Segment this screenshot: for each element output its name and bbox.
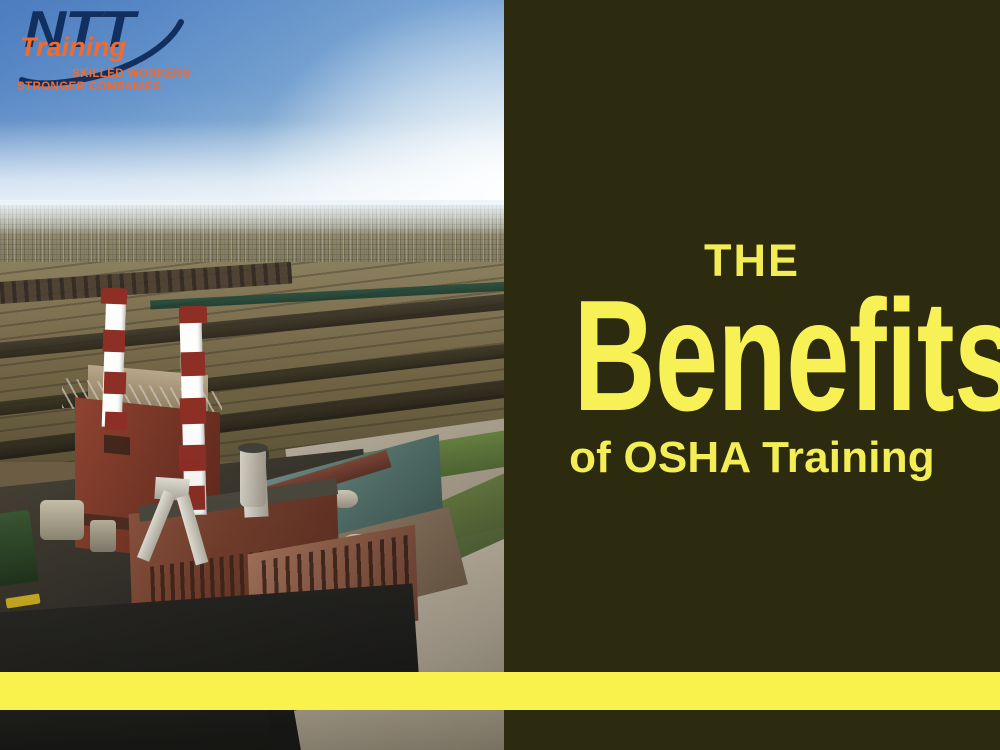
smokestack-left-band-2 xyxy=(104,372,127,395)
title-panel: THE Benefits of OSHA Training xyxy=(504,0,1000,750)
smokestack-left-band-3 xyxy=(105,412,128,431)
vertical-duct xyxy=(240,447,266,507)
horizon-haze xyxy=(0,200,504,236)
logo-subbrand-text: Training xyxy=(20,34,126,61)
smokestack-right-band-2 xyxy=(180,398,207,425)
slide-root: NTT Training SKILLED WORKERS STRONGER CO… xyxy=(0,0,1000,750)
vertical-duct-cap xyxy=(238,443,268,453)
storage-tank-left xyxy=(40,500,84,540)
plant-tower-window xyxy=(104,435,130,456)
smokestack-right-band-3 xyxy=(179,445,207,472)
storage-tank-left-small xyxy=(90,520,116,552)
smokestack-right-cap xyxy=(179,306,207,324)
title-headline: Benefits xyxy=(573,295,930,418)
smokestack-left-band-1 xyxy=(103,330,126,353)
logo-tagline-line-2: STRONGER COMPANIES xyxy=(17,81,161,93)
hero-photo: NTT Training SKILLED WORKERS STRONGER CO… xyxy=(0,0,504,750)
title-block: THE Benefits of OSHA Training xyxy=(504,238,1000,480)
sky-haze-right xyxy=(250,0,504,230)
smokestack-right-band-1 xyxy=(181,352,206,377)
ntt-training-logo[interactable]: NTT Training SKILLED WORKERS STRONGER CO… xyxy=(6,2,206,100)
yellow-accent-band xyxy=(0,672,1000,710)
photo-canvas xyxy=(0,0,504,750)
smokestack-left-cap xyxy=(101,288,128,305)
logo-tagline-line-1: SKILLED WORKERS xyxy=(72,68,190,80)
